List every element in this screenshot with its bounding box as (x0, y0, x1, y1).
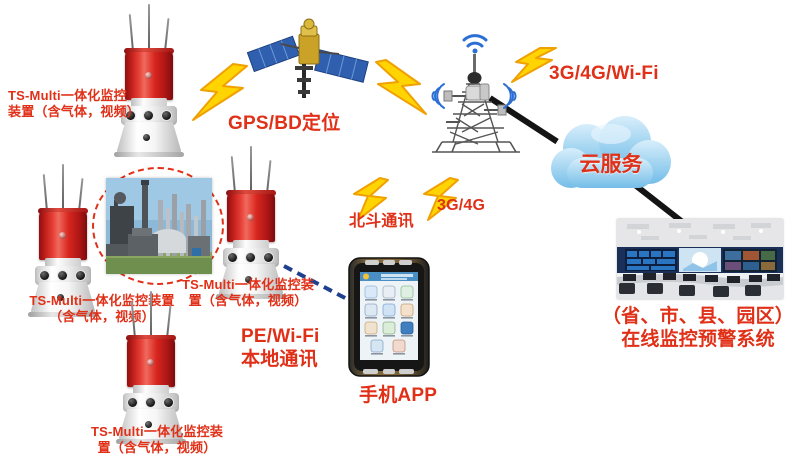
sensor-port-icon (146, 398, 155, 407)
device-base-rim (114, 152, 184, 157)
diagram-canvas: TS-Multi一体化监控 装置（含气体，视频） TS-Multi一体化监控装置… (0, 0, 797, 464)
sensor-port-icon (128, 398, 137, 407)
link-label-3g4g: 3G/4G (437, 196, 485, 216)
device-label-bottom: TS-Multi一体化监控装 置（含气体，视频） (67, 424, 247, 456)
petrochemical-plant-photo (106, 178, 212, 274)
control-room-photo (617, 219, 783, 299)
sensor-port-icon (76, 271, 85, 280)
monitoring-device-bottom (112, 295, 190, 445)
control-room-label: （省、市、县、园区） 在线监控预警系统 (600, 305, 796, 351)
rugged-tablet-icon (347, 256, 431, 378)
device-body (227, 194, 275, 242)
link-label-beidou: 北斗通讯 (349, 212, 414, 232)
monitoring-device-top-left (110, 8, 188, 158)
cloud-label: 云服务 (541, 148, 681, 178)
sensor-port-icon (58, 271, 67, 280)
satellite-icon (243, 8, 373, 103)
sensor-port-icon (164, 398, 173, 407)
sensor-port-icon (228, 253, 237, 262)
device-body (39, 212, 87, 260)
link-label-gps: GPS/BD定位 (228, 112, 340, 135)
tablet-label: 手机APP (359, 384, 437, 407)
sensor-port-icon (144, 111, 153, 120)
cloud-service-node: 云服务 (541, 114, 681, 206)
device-label-top-left: TS-Multi一体化监控 装置（含气体，视频） (8, 88, 140, 120)
sensor-port-icon (40, 271, 49, 280)
sensor-port-icon (264, 253, 273, 262)
device-body (127, 339, 175, 387)
sensor-port-icon (246, 253, 255, 262)
link-label-3g4g-wifi: 3G/4G/Wi-Fi (549, 62, 659, 85)
link-label-local-comm: PE/Wi-Fi 本地通讯 (241, 325, 319, 371)
sensor-port-icon (162, 111, 171, 120)
lightning-bolt-satellite-to-tower (372, 58, 434, 123)
device-base-cone (116, 122, 182, 154)
